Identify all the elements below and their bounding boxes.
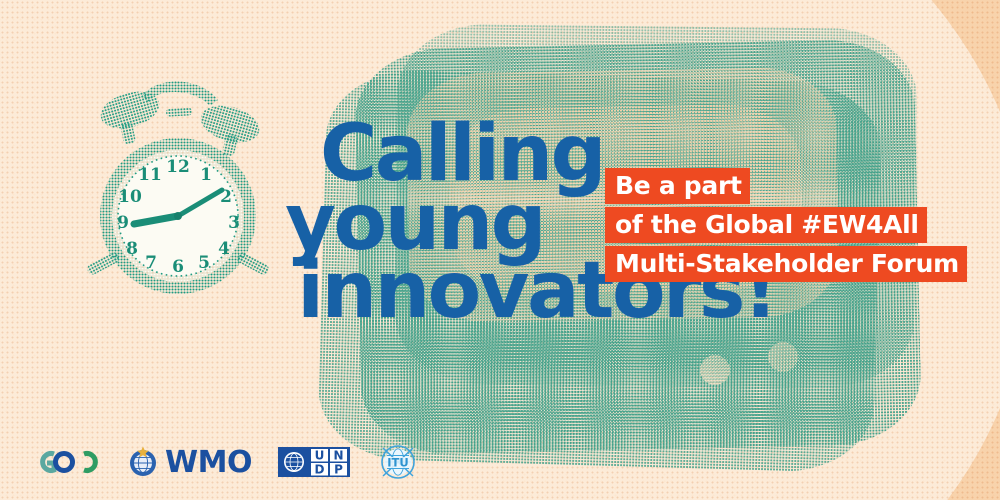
callout-line-2: of the Global #EW4All: [605, 207, 927, 243]
tv-knob: [768, 342, 798, 372]
itu-logo: ITU: [376, 442, 420, 482]
svg-text:P: P: [334, 463, 343, 477]
geo-logo: [28, 445, 100, 479]
partner-logo-strip: WMO U N D: [28, 442, 420, 482]
promotional-banner: 12 1 2 3 4 5 6 7 8 9 10 11 Calling young: [0, 0, 1000, 500]
tv-knob: [700, 355, 730, 385]
undp-logo: U N D P: [278, 445, 350, 479]
svg-text:U: U: [315, 449, 325, 463]
callout-line-3: Multi-Stakeholder Forum: [605, 246, 967, 282]
svg-text:D: D: [314, 463, 324, 477]
itu-wordmark: ITU: [387, 455, 408, 469]
callout-banner: Be a part of the Global #EW4All Multi-St…: [605, 168, 967, 282]
svg-text:N: N: [333, 449, 343, 463]
wmo-wordmark: WMO: [165, 445, 252, 480]
callout-line-1: Be a part: [605, 168, 750, 204]
wmo-logo: WMO: [126, 445, 252, 480]
